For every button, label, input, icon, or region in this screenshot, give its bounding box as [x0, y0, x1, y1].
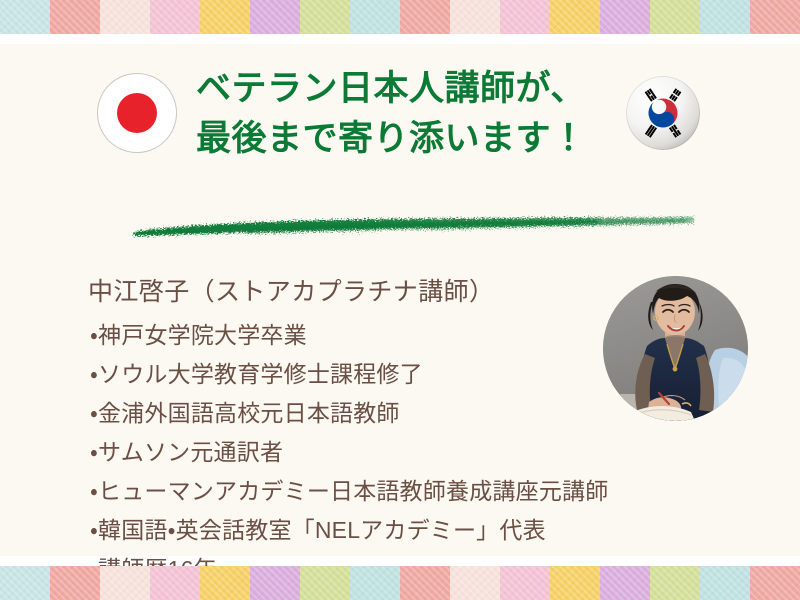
decorative-stripe — [350, 0, 400, 34]
decorative-stripe — [200, 566, 250, 600]
decorative-stripe — [700, 566, 750, 600]
decorative-stripe — [700, 0, 750, 34]
decorative-stripe — [500, 0, 550, 34]
decorative-stripe — [150, 566, 200, 600]
decorative-stripe — [550, 566, 600, 600]
instructor-name: 中江啓子（ストアカプラチナ講師） — [88, 272, 494, 308]
slide-root: ベテラン日本人講師が、 最後まで寄り添います！ — [0, 0, 800, 600]
decorative-stripe-band-bottom — [0, 566, 800, 600]
decorative-stripe — [450, 566, 500, 600]
decorative-stripe — [100, 0, 150, 34]
decorative-stripe — [250, 0, 300, 34]
list-item: ・ヒューマンアカデミー日本語教師養成講座元講師 — [90, 472, 730, 511]
decorative-stripe — [750, 566, 800, 600]
decorative-stripe — [500, 566, 550, 600]
decorative-stripe — [250, 566, 300, 600]
content-panel: ベテラン日本人講師が、 最後まで寄り添います！ — [0, 44, 800, 556]
decorative-stripe — [450, 0, 500, 34]
japan-flag-icon — [97, 73, 177, 153]
decorative-stripe — [600, 566, 650, 600]
japan-flag-sun — [117, 93, 157, 133]
decorative-stripe — [650, 0, 700, 34]
list-item: ・サムソン元通訳者 — [90, 433, 730, 472]
list-item: ・韓国語・英会話教室「NELアカデミー」代表 — [90, 511, 730, 550]
decorative-stripe — [550, 0, 600, 34]
decorative-stripe — [150, 0, 200, 34]
decorative-stripe — [0, 566, 50, 600]
decorative-stripe — [50, 566, 100, 600]
page-title: ベテラン日本人講師が、 最後まで寄り添います！ — [196, 64, 626, 163]
decorative-stripe — [650, 566, 700, 600]
green-brush-underline-icon — [128, 210, 700, 244]
decorative-stripe — [200, 0, 250, 34]
korea-flag-icon — [626, 76, 700, 150]
decorative-stripe — [400, 566, 450, 600]
instructor-portrait-avatar — [603, 276, 748, 421]
decorative-stripe — [0, 0, 50, 34]
decorative-stripe — [100, 566, 150, 600]
decorative-stripe — [300, 0, 350, 34]
decorative-stripe — [400, 0, 450, 34]
decorative-stripe — [600, 0, 650, 34]
decorative-stripe — [300, 566, 350, 600]
header-row: ベテラン日本人講師が、 最後まで寄り添います！ — [0, 64, 800, 168]
decorative-stripe — [350, 566, 400, 600]
decorative-stripe-band-top — [0, 0, 800, 34]
decorative-stripe — [750, 0, 800, 34]
decorative-stripe — [50, 0, 100, 34]
